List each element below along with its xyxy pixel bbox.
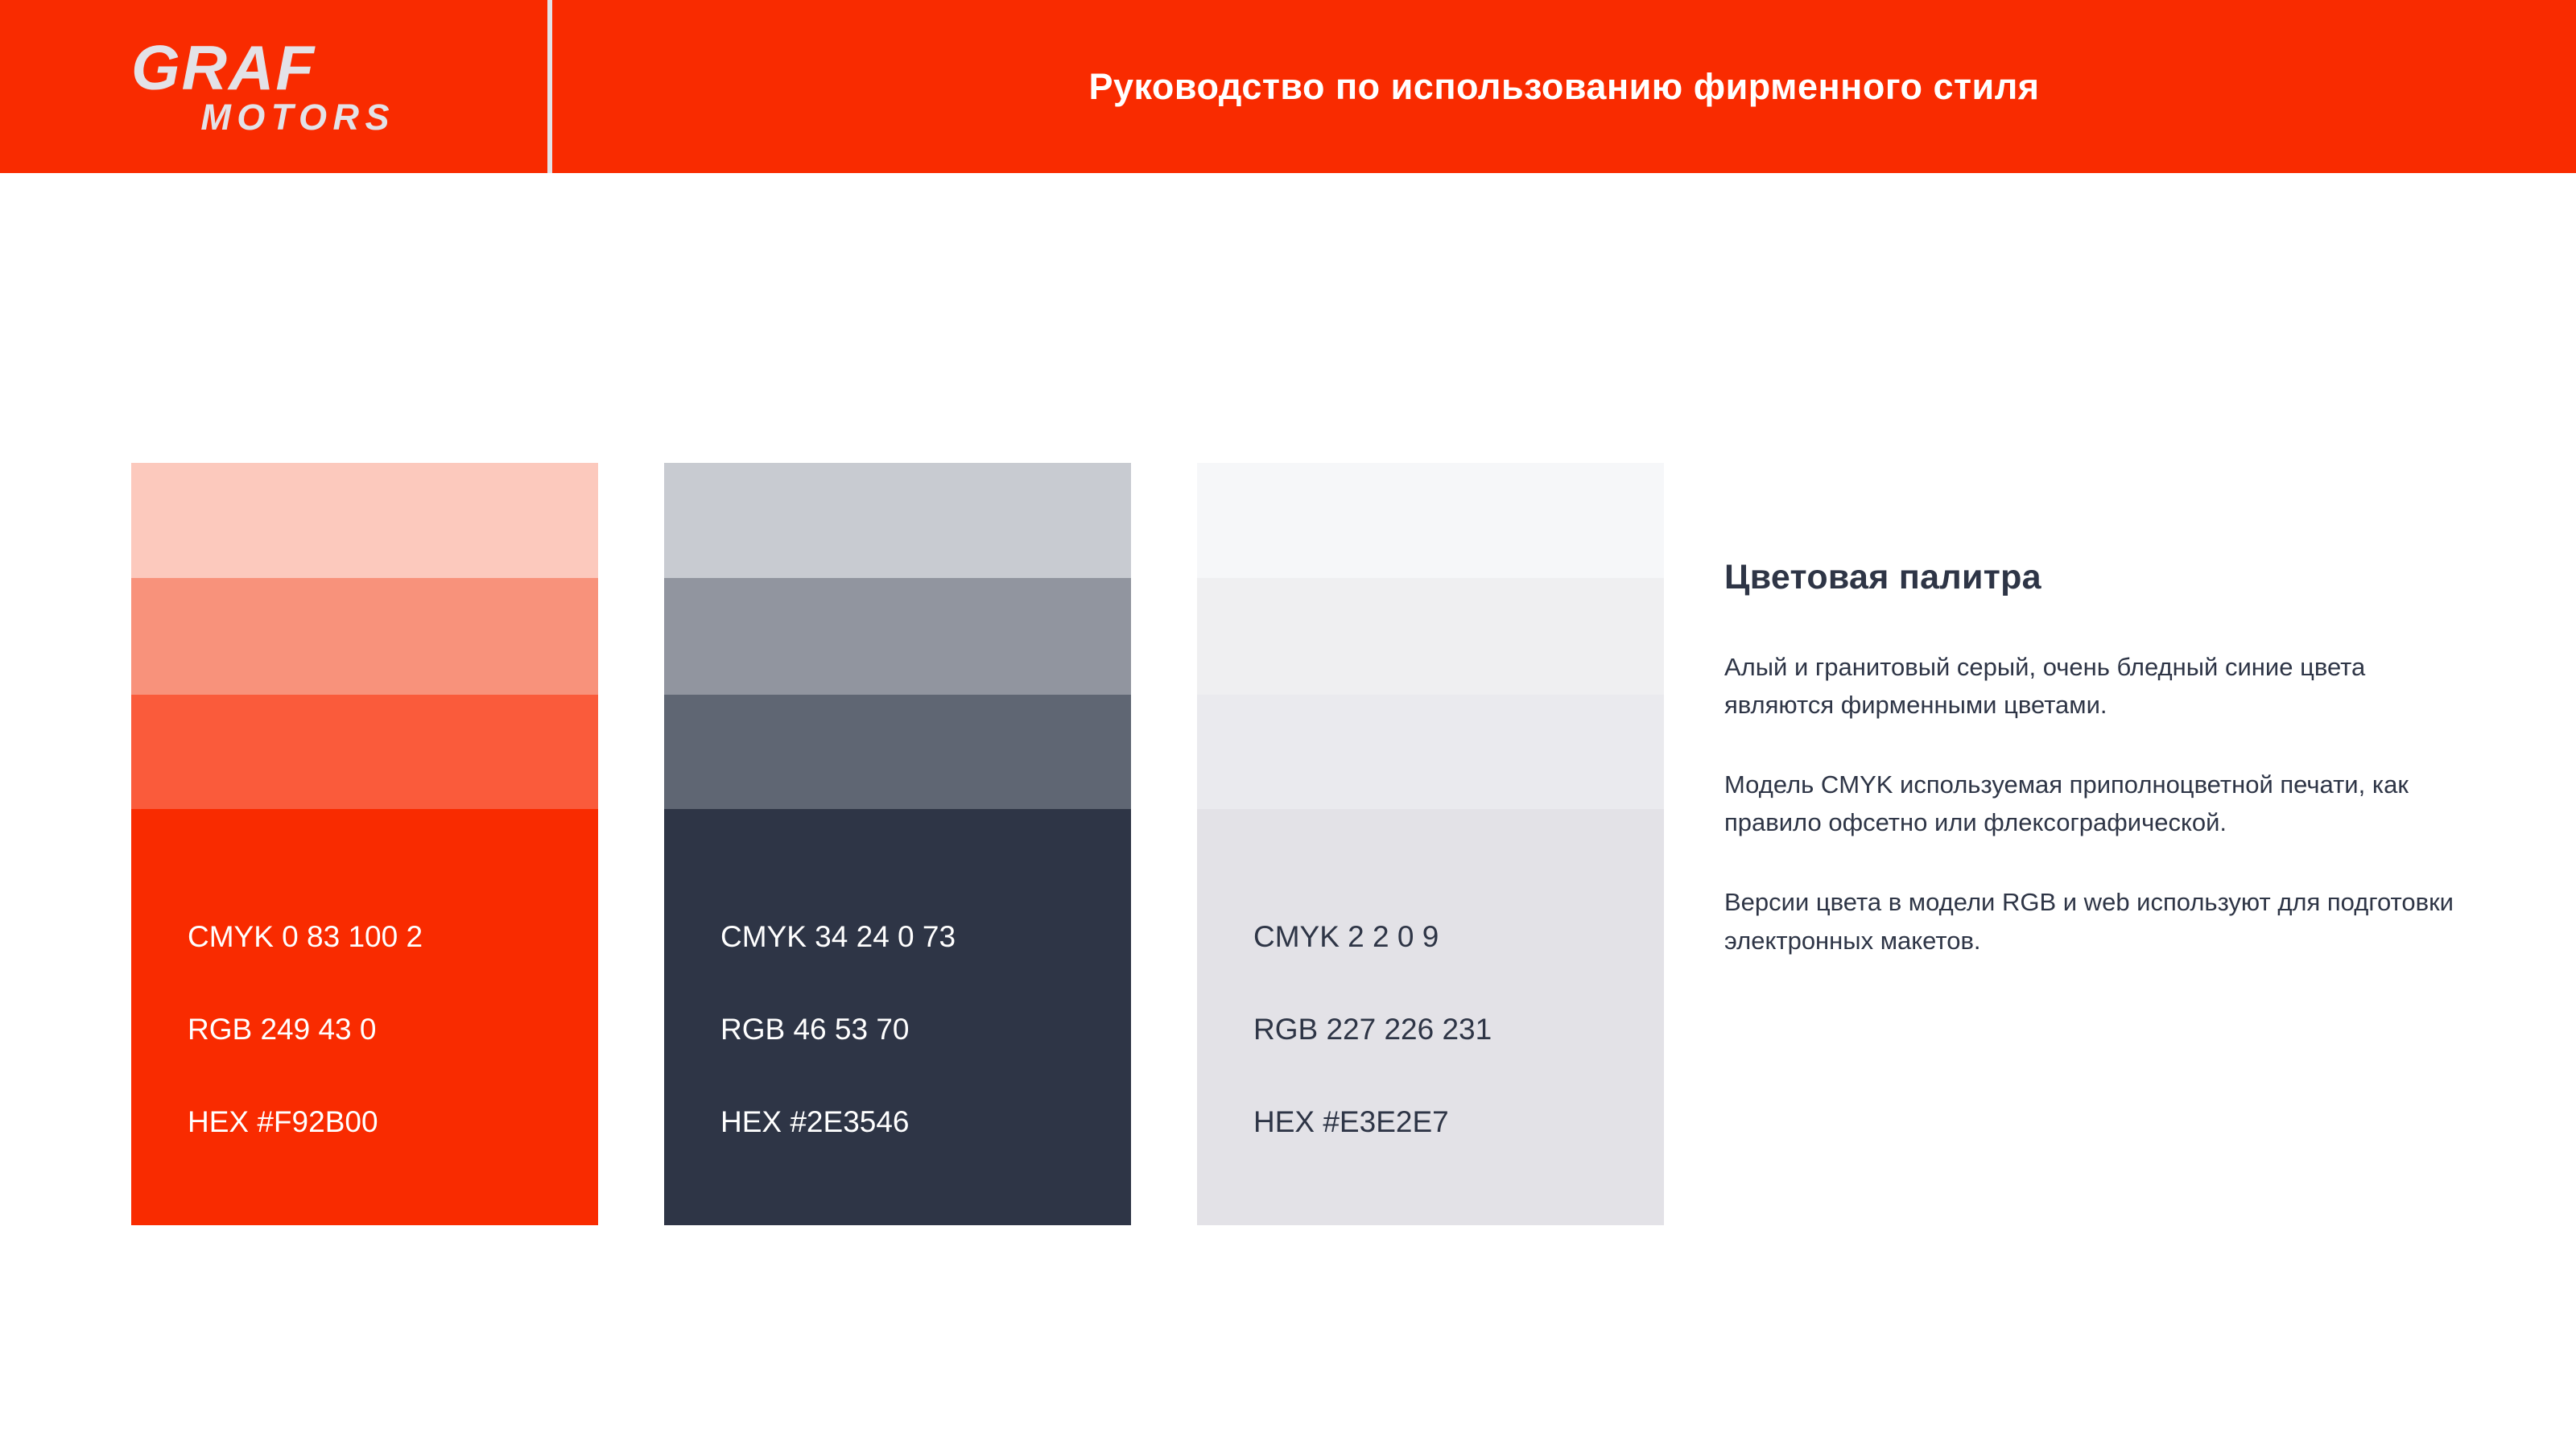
tint-band-mid <box>664 695 1131 809</box>
tint-band-light <box>131 578 598 695</box>
tint-band-mid <box>1197 695 1664 809</box>
description-paragraph: Модель CMYK используемая приполноцветной… <box>1724 766 2465 841</box>
tint-band-lightest <box>1197 463 1664 578</box>
cmyk-value: CMYK 2 2 0 9 <box>1253 922 1656 952</box>
rgb-value: RGB 46 53 70 <box>720 1014 1123 1044</box>
section-heading: Цветовая палитра <box>1724 558 2465 597</box>
cmyk-value: CMYK 0 83 100 2 <box>188 922 590 952</box>
description-paragraph: Алый и гранитовый серый, очень бледный с… <box>1724 648 2465 724</box>
tint-band-lightest <box>131 463 598 578</box>
brand-logo: GRAF MOTORS <box>131 37 397 138</box>
cmyk-value: CMYK 34 24 0 73 <box>720 922 1123 952</box>
color-swatch-column: CMYK 34 24 0 73 RGB 46 53 70 HEX #2E3546 <box>664 463 1131 1225</box>
tint-band-light <box>1197 578 1664 695</box>
rgb-value: RGB 227 226 231 <box>1253 1014 1656 1044</box>
tint-band-light <box>664 578 1131 695</box>
color-spec-list: CMYK 0 83 100 2 RGB 249 43 0 HEX #F92B00 <box>188 922 590 1137</box>
tint-band-lightest <box>664 463 1131 578</box>
logo-wordmark-primary: GRAF <box>131 37 397 98</box>
page-header: GRAF MOTORS Руководство по использованию… <box>0 0 2576 173</box>
hex-value: HEX #E3E2E7 <box>1253 1107 1656 1137</box>
hex-value: HEX #2E3546 <box>720 1107 1123 1137</box>
logo-wordmark-secondary: MOTORS <box>131 98 397 136</box>
color-spec-list: CMYK 34 24 0 73 RGB 46 53 70 HEX #2E3546 <box>720 922 1123 1137</box>
hex-value: HEX #F92B00 <box>188 1107 590 1137</box>
rgb-value: RGB 249 43 0 <box>188 1014 590 1044</box>
color-swatch-column: CMYK 0 83 100 2 RGB 249 43 0 HEX #F92B00 <box>131 463 598 1225</box>
description-paragraph: Версии цвета в модели RGB и web использу… <box>1724 883 2465 959</box>
tint-band-mid <box>131 695 598 809</box>
color-swatch-column: CMYK 2 2 0 9 RGB 227 226 231 HEX #E3E2E7 <box>1197 463 1664 1225</box>
color-spec-list: CMYK 2 2 0 9 RGB 227 226 231 HEX #E3E2E7 <box>1253 922 1656 1137</box>
palette-description-panel: Цветовая палитра Алый и гранитовый серый… <box>1724 558 2465 960</box>
page-title: Руководство по использованию фирменного … <box>552 0 2576 173</box>
